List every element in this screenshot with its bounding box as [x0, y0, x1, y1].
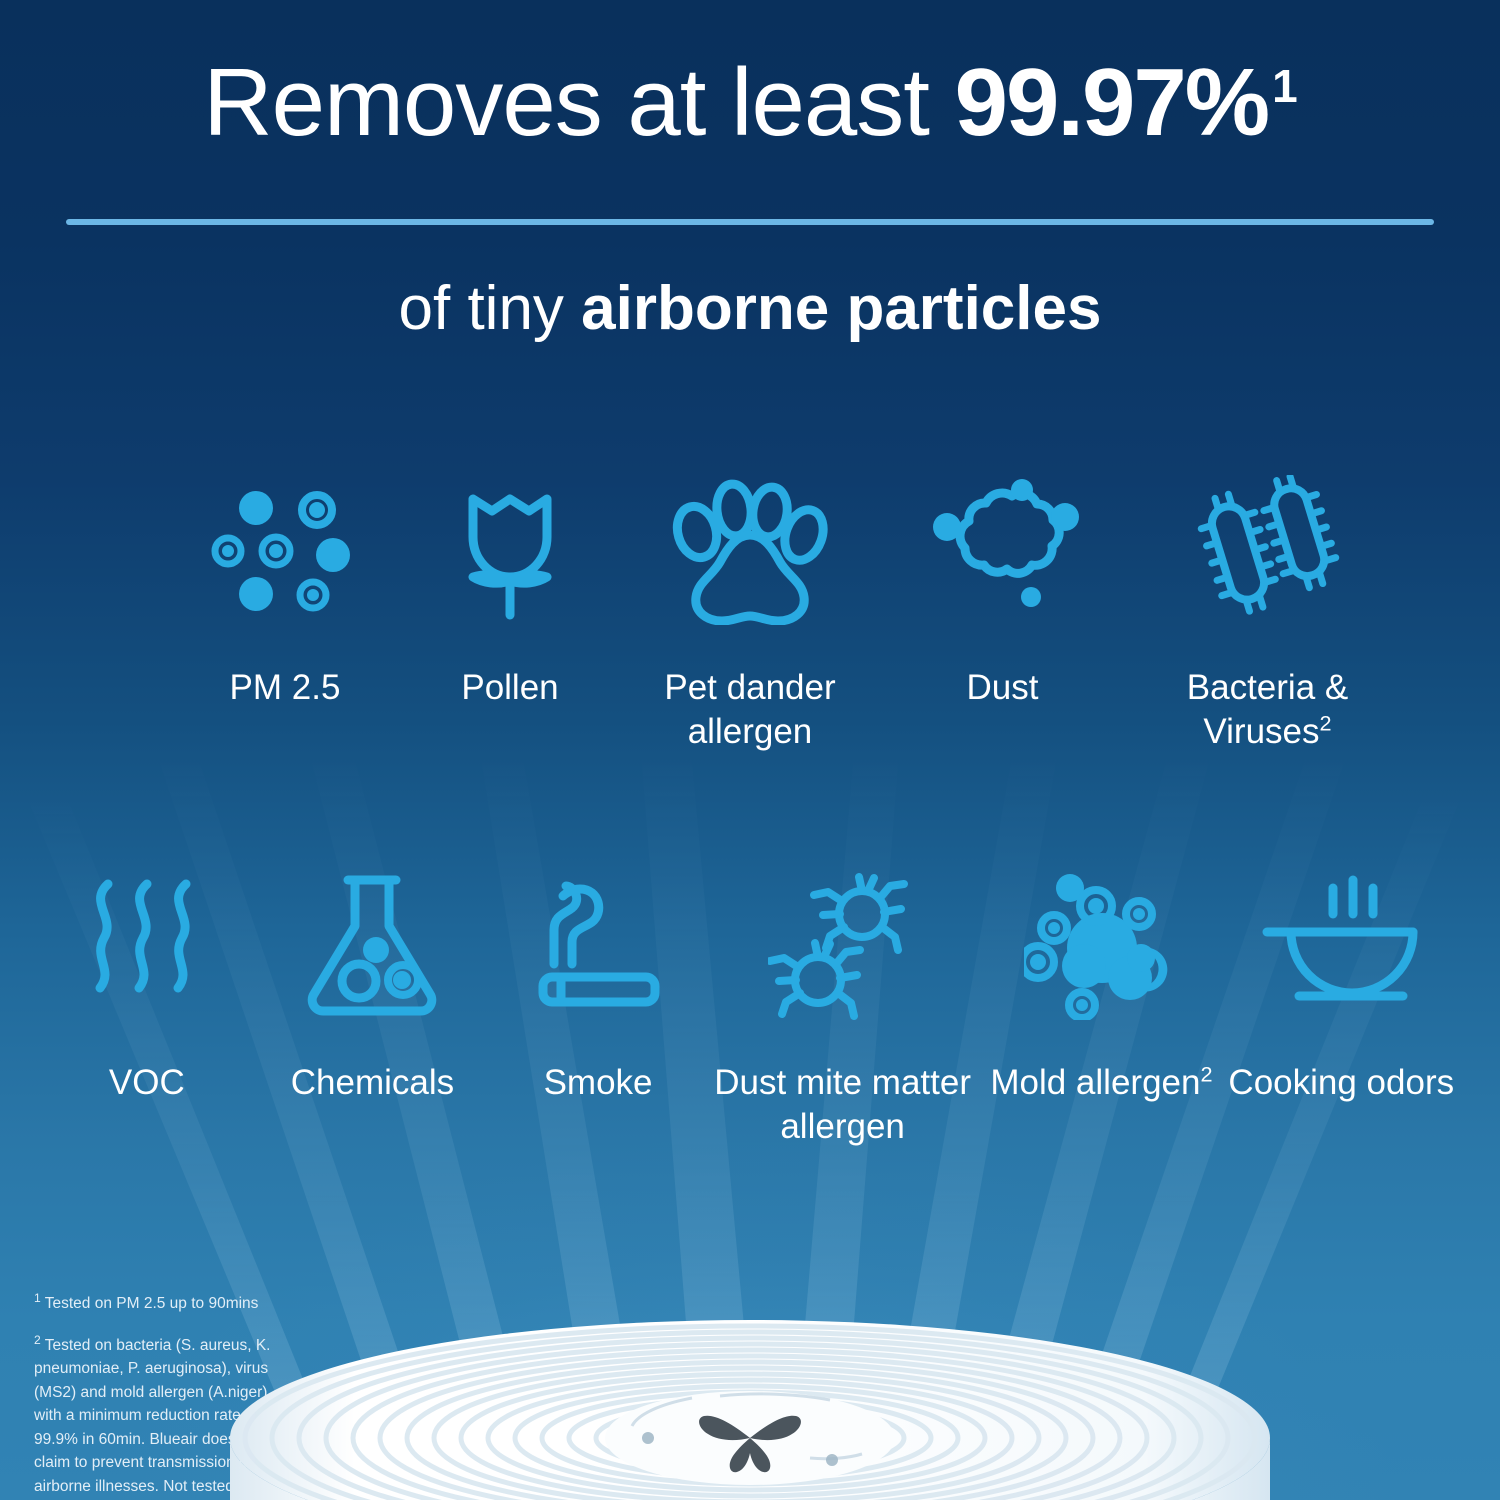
feature-label: Mold allergen2 — [990, 1061, 1212, 1105]
gases-row: VOC — [40, 865, 1460, 1149]
label-text: Cooking odors — [1228, 1063, 1454, 1102]
blueair-leaf-logo — [699, 1416, 801, 1473]
footnote-marker: 2 — [34, 1332, 41, 1346]
feature-label: PM 2.5 — [230, 666, 341, 710]
label-text: Smoke — [544, 1063, 653, 1102]
label-footnote-marker: 2 — [1200, 1061, 1212, 1086]
footnote-marker: 1 — [34, 1291, 41, 1305]
bacteria-virus-icon — [1188, 470, 1348, 630]
footnote-2: 2 Tested on bacteria (S. aureus, K. pneu… — [34, 1334, 284, 1500]
headline-value: 99.97% — [955, 49, 1269, 156]
label-text: VOC — [109, 1063, 185, 1102]
label-text: Dust — [967, 668, 1039, 707]
feature-label: Pet dander allergen — [618, 666, 883, 754]
footnotes: 1 Tested on PM 2.5 up to 90mins 2 Tested… — [34, 1292, 284, 1500]
feature-pm25: PM 2.5 — [168, 470, 403, 710]
feature-label: Dust mite matter allergen — [705, 1061, 980, 1149]
feature-bacteria-viruses: Bacteria & Viruses2 — [1123, 470, 1413, 754]
feature-pollen: Pollen — [403, 470, 618, 710]
air-purifier-top — [220, 1288, 1280, 1500]
feature-pet-dander: Pet dander allergen — [618, 470, 883, 754]
smoke-cigarette-icon — [521, 865, 676, 1025]
feature-label: VOC — [109, 1061, 185, 1105]
particles-row: PM 2.5 Pollen — [150, 470, 1430, 754]
feature-label: Chemicals — [291, 1061, 454, 1105]
label-text: Chemicals — [291, 1063, 454, 1102]
chemicals-flask-icon — [297, 865, 447, 1025]
subheadline: of tiny airborne particles — [0, 275, 1500, 343]
feature-label: Smoke — [544, 1061, 653, 1105]
footnote-1: 1 Tested on PM 2.5 up to 90mins — [34, 1292, 284, 1316]
pet-dander-paw-icon — [670, 470, 830, 630]
feature-label: Bacteria & Viruses2 — [1123, 666, 1413, 754]
subheadline-strong: airborne particles — [581, 274, 1101, 343]
label-text: Mold allergen — [990, 1063, 1200, 1102]
feature-smoke: Smoke — [491, 865, 705, 1105]
footnote-text: Tested on bacteria (S. aureus, K. pneumo… — [34, 1337, 270, 1500]
dust-cloud-icon — [925, 470, 1080, 630]
feature-cooking-odors: Cooking odors — [1223, 865, 1460, 1105]
feature-dust-mite: Dust mite matter allergen — [705, 865, 980, 1149]
product-infographic: Removes at least 99.97%1 of tiny airborn… — [0, 0, 1500, 1500]
header-divider — [66, 219, 1434, 225]
cooking-odors-pan-icon — [1261, 865, 1421, 1025]
headline-footnote-marker: 1 — [1272, 60, 1297, 112]
feature-voc: VOC — [40, 865, 254, 1105]
headline-prefix: Removes at least — [203, 49, 954, 156]
headline: Removes at least 99.97%1 — [0, 52, 1500, 154]
voc-vapor-icon — [72, 865, 222, 1025]
pm25-particles-icon — [210, 470, 360, 630]
feature-mold: Mold allergen2 — [980, 865, 1222, 1105]
dust-mite-icon — [768, 865, 918, 1025]
feature-label: Cooking odors — [1228, 1061, 1454, 1105]
label-text: Pet dander allergen — [664, 668, 835, 751]
footnote-text: Tested on PM 2.5 up to 90mins — [41, 1295, 259, 1312]
feature-label: Pollen — [461, 666, 558, 710]
label-footnote-marker: 2 — [1320, 710, 1332, 735]
pollen-flower-icon — [435, 470, 585, 630]
feature-chemicals: Chemicals — [254, 865, 491, 1105]
label-text: PM 2.5 — [230, 668, 341, 707]
label-text: Dust mite matter allergen — [714, 1063, 971, 1146]
feature-dust: Dust — [883, 470, 1123, 710]
label-text: Pollen — [461, 668, 558, 707]
subheadline-prefix: of tiny — [399, 274, 582, 343]
mold-spores-icon — [1024, 865, 1179, 1025]
feature-label: Dust — [967, 666, 1039, 710]
